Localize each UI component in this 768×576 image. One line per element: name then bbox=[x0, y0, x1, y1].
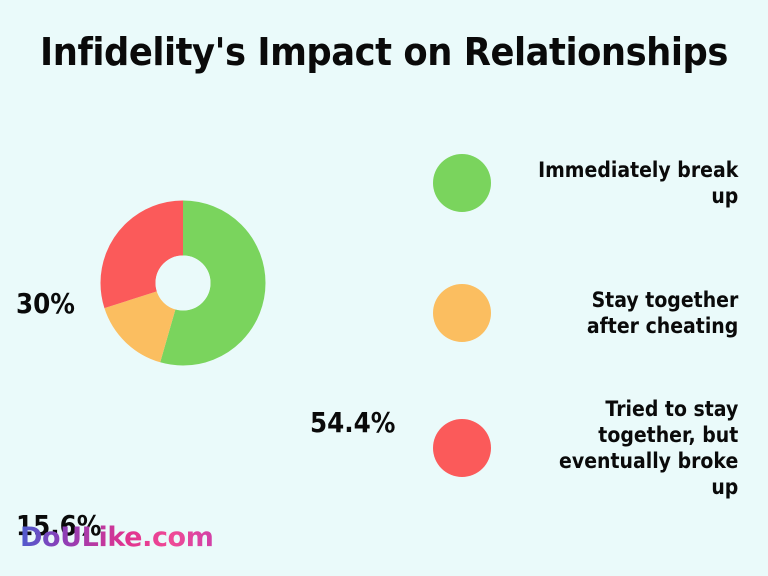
legend-swatch-orange-circle-icon bbox=[433, 284, 491, 342]
slice-label-red: 30% bbox=[16, 289, 75, 319]
legend-item-stay-together-after-cheating[interactable]: Stay together after cheating bbox=[420, 270, 768, 356]
chart-legend: Immediately break up Stay together after… bbox=[420, 130, 768, 500]
legend-label-tried-to-stay-together: Tried to stay together, but eventually b… bbox=[519, 396, 768, 500]
legend-label-stay-together-after-cheating: Stay together after cheating bbox=[519, 287, 768, 339]
infographic-root: Infidelity's Impact on Relationships 30%… bbox=[0, 0, 768, 576]
legend-swatch-green-circle-icon bbox=[433, 154, 491, 212]
slice-label-green: 54.4% bbox=[310, 408, 395, 438]
legend-swatch-red-circle-icon bbox=[433, 419, 491, 477]
page-title: Infidelity's Impact on Relationships bbox=[27, 28, 741, 76]
legend-label-immediately-break-up: Immediately break up bbox=[519, 157, 768, 209]
legend-item-immediately-break-up[interactable]: Immediately break up bbox=[420, 148, 768, 218]
donut-chart-svg bbox=[73, 173, 293, 393]
legend-item-tried-to-stay-together[interactable]: Tried to stay together, but eventually b… bbox=[420, 392, 768, 504]
doulike-logo[interactable]: DoULike.com bbox=[20, 521, 213, 555]
donut-hole bbox=[156, 256, 211, 311]
donut-chart: 30% 15.6% 54.4% bbox=[0, 100, 420, 500]
